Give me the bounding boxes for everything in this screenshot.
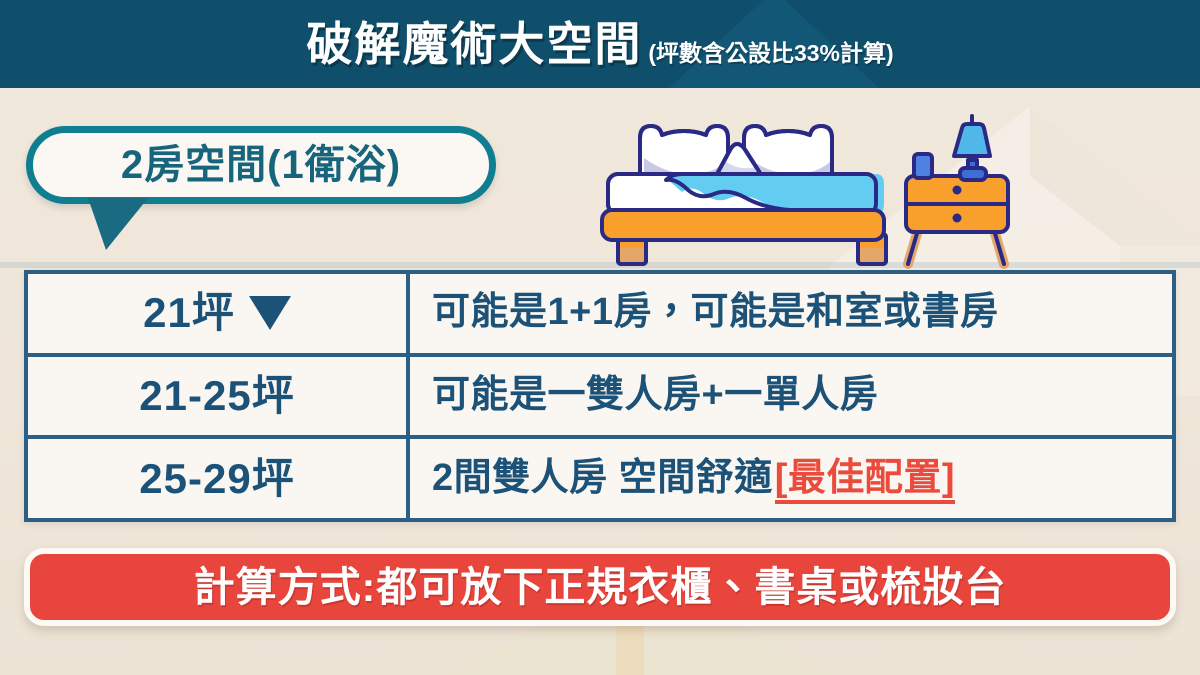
badge-label: 2房空間(1衛浴) — [121, 145, 401, 185]
description-main: 可能是1+1房，可能是和室或書房 — [432, 291, 998, 333]
room-type-badge: 2房空間(1衛浴) — [26, 126, 496, 204]
table-row: 21-25坪 可能是一雙人房+一單人房 — [28, 357, 1172, 440]
triangle-down-icon — [249, 296, 291, 330]
table-row: 25-29坪 2間雙人房 空間舒適[最佳配置] — [28, 439, 1172, 518]
table-cell-description: 可能是一雙人房+一單人房 — [410, 357, 1172, 436]
table-cell-description: 2間雙人房 空間舒適[最佳配置] — [410, 439, 1172, 518]
badge-bubble: 2房空間(1衛浴) — [26, 126, 496, 204]
badge-tail-decoration — [88, 198, 148, 250]
description-main: 可能是一雙人房+一單人房 — [432, 374, 878, 416]
table-cell-size: 25-29坪 — [28, 439, 410, 518]
size-value-wrap: 21坪 — [143, 292, 291, 334]
size-value: 25-29坪 — [139, 458, 294, 500]
infographic-canvas: 破解魔術大空間 (坪數含公設比33%計算) 2房空間(1衛浴) — [0, 0, 1200, 675]
table-cell-size: 21-25坪 — [28, 357, 410, 436]
table-cell-size: 21坪 — [28, 274, 410, 353]
description-highlight: [最佳配置] — [775, 457, 955, 504]
calculation-note-banner: 計算方式:都可放下正規衣櫃、書桌或梳妝台 — [24, 548, 1176, 626]
table-cell-description: 可能是1+1房，可能是和室或書房 — [410, 274, 1172, 353]
calculation-note-text: 計算方式:都可放下正規衣櫃、書桌或梳妝台 — [194, 567, 1007, 608]
size-value: 21-25坪 — [139, 375, 294, 417]
table-row: 21坪 可能是1+1房，可能是和室或書房 — [28, 274, 1172, 357]
header-bar: 破解魔術大空間 (坪數含公設比33%計算) — [0, 0, 1200, 88]
size-value: 21坪 — [143, 292, 235, 334]
description-text: 2間雙人房 空間舒適[最佳配置] — [432, 459, 955, 499]
size-table: 21坪 可能是1+1房，可能是和室或書房 21-25坪 可能是一雙人房+一單人房 — [24, 270, 1176, 522]
size-value-wrap: 21-25坪 — [139, 375, 294, 417]
description-text: 可能是1+1房，可能是和室或書房 — [432, 293, 998, 333]
bedroom-illustration — [596, 104, 1026, 274]
page-subtitle: (坪數含公設比33%計算) — [648, 42, 893, 65]
description-text: 可能是一雙人房+一單人房 — [432, 376, 878, 416]
page-title: 破解魔術大空間 — [306, 21, 642, 67]
size-value-wrap: 25-29坪 — [139, 458, 294, 500]
description-main: 2間雙人房 空間舒適 — [432, 457, 773, 499]
